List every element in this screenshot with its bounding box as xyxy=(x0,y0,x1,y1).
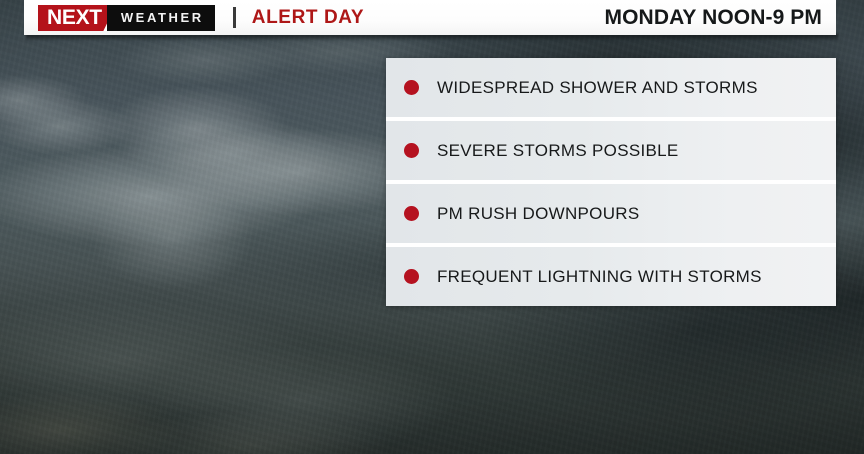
list-item-label: PM RUSH DOWNPOURS xyxy=(437,205,640,222)
bullet-dot-icon xyxy=(404,143,419,158)
logo-weather-text: WEATHER xyxy=(121,11,204,24)
logo-next-text: NEXT xyxy=(47,7,102,28)
list-item: PM RUSH DOWNPOURS xyxy=(386,184,836,243)
list-item-label: WIDESPREAD SHOWER AND STORMS xyxy=(437,79,758,96)
bullet-dot-icon xyxy=(404,269,419,284)
header-banner: NEXT WEATHER ALERT DAY MONDAY NOON-9 PM xyxy=(24,0,836,35)
header-divider-icon xyxy=(233,7,236,28)
logo-next-block: NEXT xyxy=(38,5,107,31)
header-timeframe-title: MONDAY NOON-9 PM xyxy=(605,7,822,28)
list-item: WIDESPREAD SHOWER AND STORMS xyxy=(386,58,836,117)
bullet-dot-icon xyxy=(404,206,419,221)
logo-weather-block: WEATHER xyxy=(107,5,215,31)
bullet-dot-icon xyxy=(404,80,419,95)
list-item-label: FREQUENT LIGHTNING WITH STORMS xyxy=(437,268,762,285)
list-item: SEVERE STORMS POSSIBLE xyxy=(386,121,836,180)
list-item: FREQUENT LIGHTNING WITH STORMS xyxy=(386,247,836,306)
alert-bullet-panel: WIDESPREAD SHOWER AND STORMS SEVERE STOR… xyxy=(386,58,836,306)
header-drop-shadow xyxy=(26,34,838,41)
list-item-label: SEVERE STORMS POSSIBLE xyxy=(437,142,679,159)
weather-alert-graphic: NEXT WEATHER ALERT DAY MONDAY NOON-9 PM … xyxy=(0,0,864,454)
alert-day-label: ALERT DAY xyxy=(252,8,364,27)
next-weather-logo: NEXT WEATHER xyxy=(38,5,215,31)
